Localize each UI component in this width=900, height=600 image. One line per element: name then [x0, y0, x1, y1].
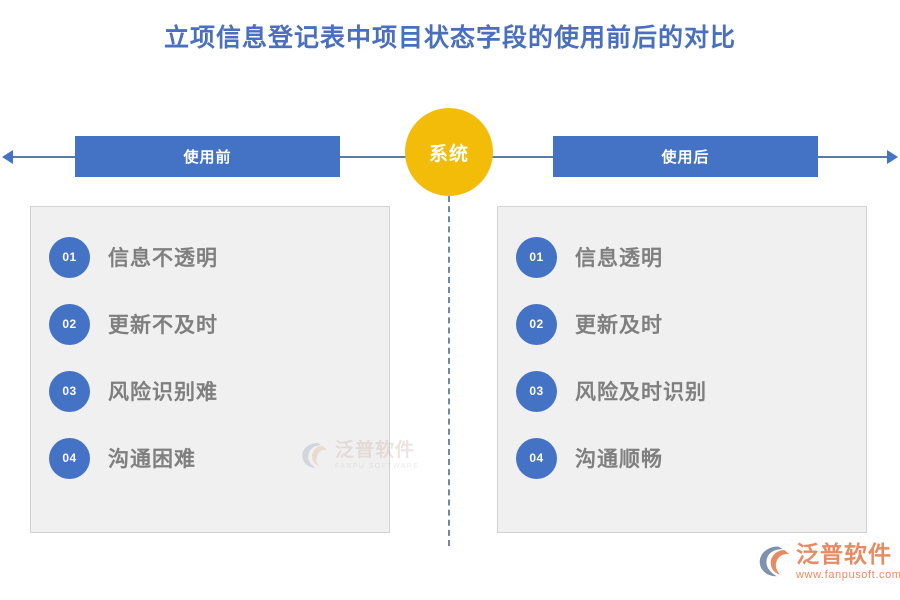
brand-logo: 泛普软件 www.fanpusoft.com	[758, 543, 900, 581]
header-bar-before[interactable]: 使用前	[75, 136, 340, 177]
item-number-badge: 03	[49, 371, 90, 412]
arrow-right-icon	[887, 150, 898, 164]
item-label: 沟通顺畅	[575, 443, 663, 473]
vertical-dashed-divider	[448, 196, 450, 546]
list-item[interactable]: 04 沟通困难	[31, 434, 389, 482]
item-number-badge: 01	[516, 237, 557, 278]
item-label: 更新不及时	[108, 309, 218, 339]
list-item[interactable]: 04 沟通顺畅	[498, 434, 866, 482]
item-number-badge: 02	[516, 304, 557, 345]
list-after: 01 信息透明 02 更新及时 03 风险及时识别 04 沟通顺畅	[498, 207, 866, 482]
item-label: 信息透明	[575, 242, 663, 272]
item-label: 更新及时	[575, 309, 663, 339]
header-bar-before-label: 使用前	[183, 146, 231, 167]
center-node-label: 系统	[429, 139, 469, 166]
list-item[interactable]: 03 风险及时识别	[498, 367, 866, 415]
header-bar-after[interactable]: 使用后	[553, 136, 818, 177]
fanpu-swoosh-icon	[758, 544, 792, 578]
arrow-left-icon	[2, 150, 13, 164]
item-number-badge: 04	[516, 438, 557, 479]
list-item[interactable]: 01 信息不透明	[31, 233, 389, 281]
item-label: 风险识别难	[108, 376, 218, 406]
list-item[interactable]: 01 信息透明	[498, 233, 866, 281]
page-title: 立项信息登记表中项目状态字段的使用前后的对比	[0, 18, 900, 54]
item-number-badge: 04	[49, 438, 90, 479]
panel-after: 01 信息透明 02 更新及时 03 风险及时识别 04 沟通顺畅	[497, 206, 867, 533]
item-number-badge: 03	[516, 371, 557, 412]
center-node-system[interactable]: 系统	[405, 108, 493, 196]
list-item[interactable]: 02 更新及时	[498, 300, 866, 348]
header-bar-after-label: 使用后	[661, 146, 709, 167]
brand-logo-text: 泛普软件 www.fanpusoft.com	[796, 543, 900, 581]
brand-url: www.fanpusoft.com	[796, 570, 900, 581]
item-label: 沟通困难	[108, 443, 196, 473]
slide-canvas: 立项信息登记表中项目状态字段的使用前后的对比 使用前 系统 使用后 01 信息不…	[0, 0, 900, 600]
item-number-badge: 02	[49, 304, 90, 345]
list-item[interactable]: 03 风险识别难	[31, 367, 389, 415]
list-before: 01 信息不透明 02 更新不及时 03 风险识别难 04 沟通困难	[31, 207, 389, 482]
panel-before: 01 信息不透明 02 更新不及时 03 风险识别难 04 沟通困难	[30, 206, 390, 533]
list-item[interactable]: 02 更新不及时	[31, 300, 389, 348]
item-label: 信息不透明	[108, 242, 218, 272]
brand-name-cn: 泛普软件	[796, 543, 900, 566]
item-number-badge: 01	[49, 237, 90, 278]
item-label: 风险及时识别	[575, 376, 707, 406]
